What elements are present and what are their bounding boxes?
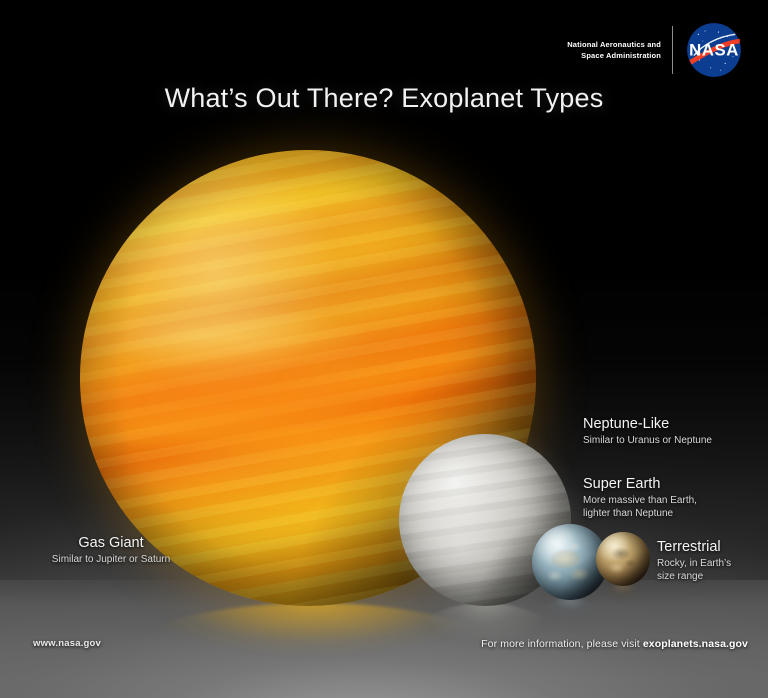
- nasa-logo-icon: NASA: [686, 22, 742, 78]
- poster-header: National Aeronautics and Space Administr…: [567, 22, 742, 78]
- label-neptune-like: Neptune-Like Similar to Uranus or Neptun…: [583, 415, 768, 447]
- header-divider: [672, 26, 673, 74]
- gas-giant-name: Gas Giant: [0, 534, 222, 552]
- label-super-earth: Super Earth More massive than Earth, lig…: [583, 475, 768, 520]
- page-title: What’s Out There? Exoplanet Types: [0, 83, 768, 114]
- exoplanet-types-poster: National Aeronautics and Space Administr…: [0, 0, 768, 698]
- super-earth-name: Super Earth: [583, 475, 768, 493]
- gas-giant-reflection: [112, 603, 516, 698]
- terrestrial-reflection: [598, 584, 648, 624]
- neptune-like-reflection: [404, 603, 566, 698]
- terrestrial-name: Terrestrial: [657, 538, 768, 556]
- terrestrial-limb-shading: [596, 532, 650, 586]
- more-information-line: For more information, please visit exopl…: [481, 638, 748, 650]
- terrestrial-planet: [596, 532, 650, 586]
- super-earth-description: More massive than Earth, lighter than Ne…: [583, 494, 768, 520]
- label-gas-giant: Gas Giant Similar to Jupiter or Saturn: [0, 534, 222, 566]
- terrestrial-description: Rocky, in Earth’s size range: [657, 557, 768, 583]
- exoplanets-website-link[interactable]: exoplanets.nasa.gov: [643, 638, 748, 650]
- agency-text: National Aeronautics and Space Administr…: [567, 39, 672, 61]
- nasa-website-link[interactable]: www.nasa.gov: [33, 638, 101, 649]
- label-terrestrial: Terrestrial Rocky, in Earth’s size range: [657, 538, 768, 583]
- svg-text:NASA: NASA: [689, 41, 739, 60]
- neptune-like-name: Neptune-Like: [583, 415, 768, 433]
- neptune-like-description: Similar to Uranus or Neptune: [583, 434, 768, 447]
- gas-giant-description: Similar to Jupiter or Saturn: [0, 553, 222, 566]
- more-information-prefix: For more information, please visit: [481, 638, 643, 650]
